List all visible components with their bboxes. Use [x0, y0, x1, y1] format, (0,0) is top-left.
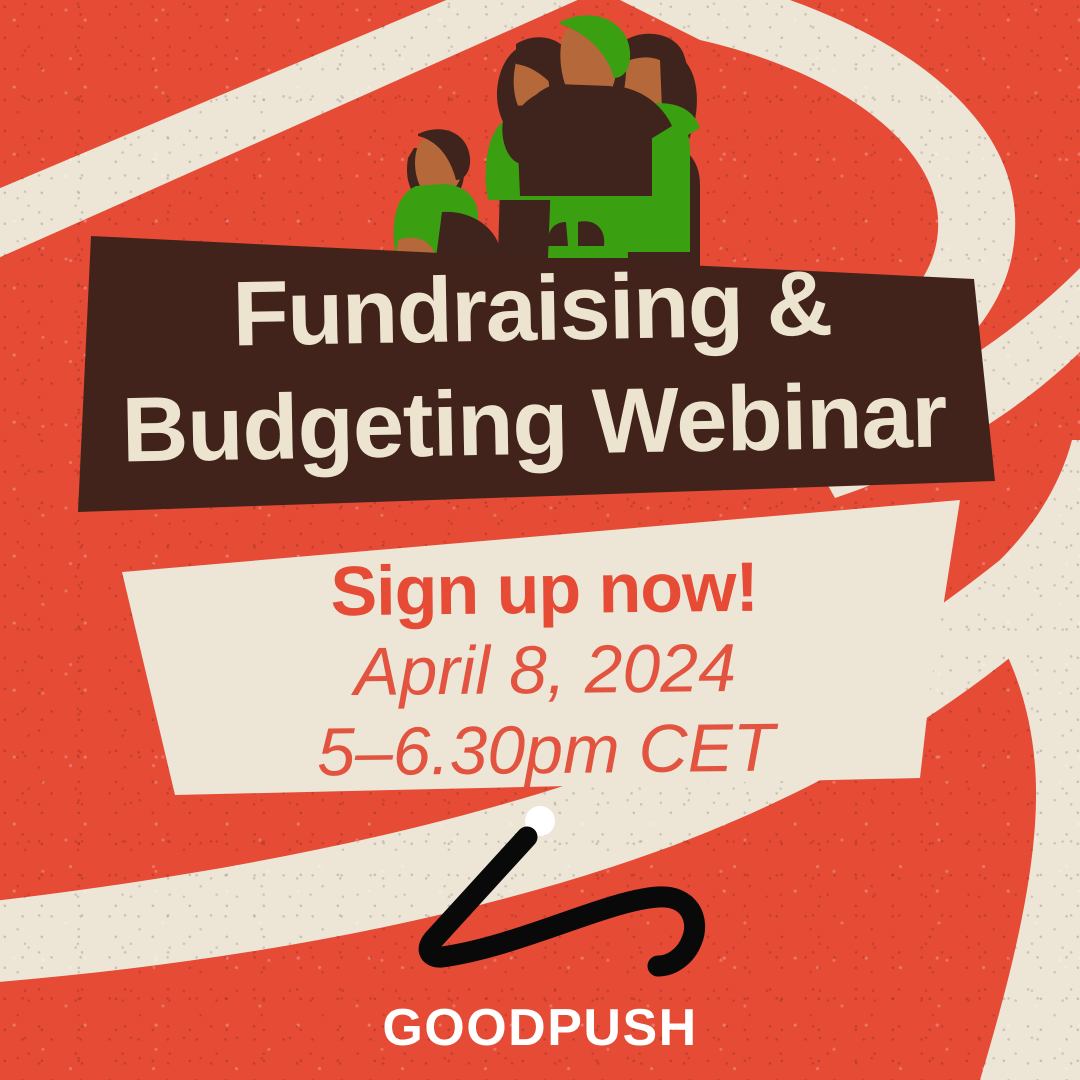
goodpush-logo-mark	[0, 0, 1080, 1080]
goodpush-wordmark: GOODPUSH	[0, 1000, 1080, 1056]
goodpush-squiggle-mark	[429, 837, 695, 966]
poster-canvas: Fundraising & Budgeting Webinar Sign up …	[0, 0, 1080, 1080]
